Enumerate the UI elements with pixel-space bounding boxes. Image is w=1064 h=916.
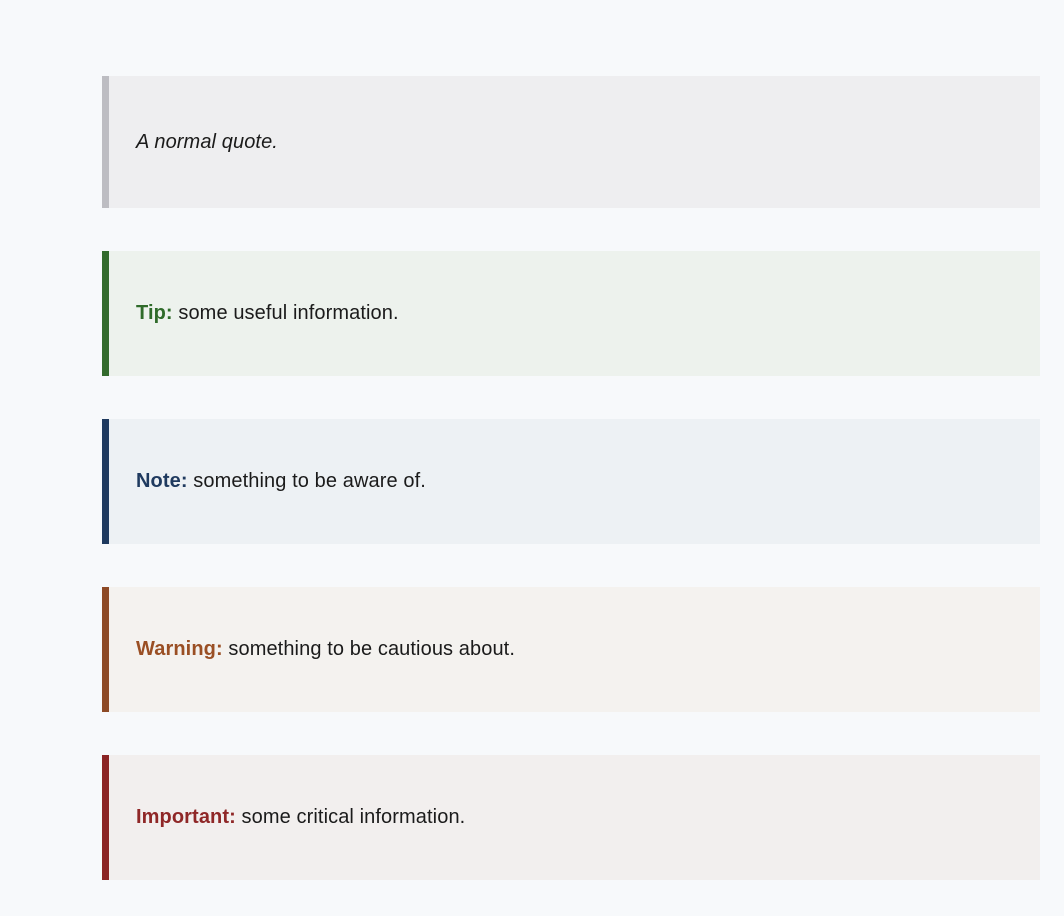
callout-label-tip: Tip: [136,302,178,324]
callout-label-warning: Warning: [136,638,228,660]
callout-body-warning: something to be cautious about. [228,638,515,660]
callout-note: Note: something to be aware of. [102,419,1040,544]
callout-text-note: Note: something to be aware of. [136,468,426,495]
callout-warning: Warning: something to be cautious about. [102,587,1040,712]
callout-stack: A normal quote. Tip: some useful informa… [62,60,1000,896]
callout-important: Important: some critical information. [102,755,1040,880]
callout-tip: Tip: some useful information. [102,251,1040,376]
callout-body-tip: some useful information. [178,302,398,324]
callout-body-note: something to be aware of. [193,470,426,492]
callout-body-important: some critical information. [242,806,466,828]
callout-label-note: Note: [136,470,193,492]
callout-label-important: Important: [136,806,242,828]
callout-text-warning: Warning: something to be cautious about. [136,636,515,663]
callout-text-tip: Tip: some useful information. [136,300,399,327]
callout-text-quote: A normal quote. [136,129,278,156]
callout-text-important: Important: some critical information. [136,804,465,831]
callout-body-quote: A normal quote. [136,131,278,153]
callout-quote: A normal quote. [102,76,1040,208]
